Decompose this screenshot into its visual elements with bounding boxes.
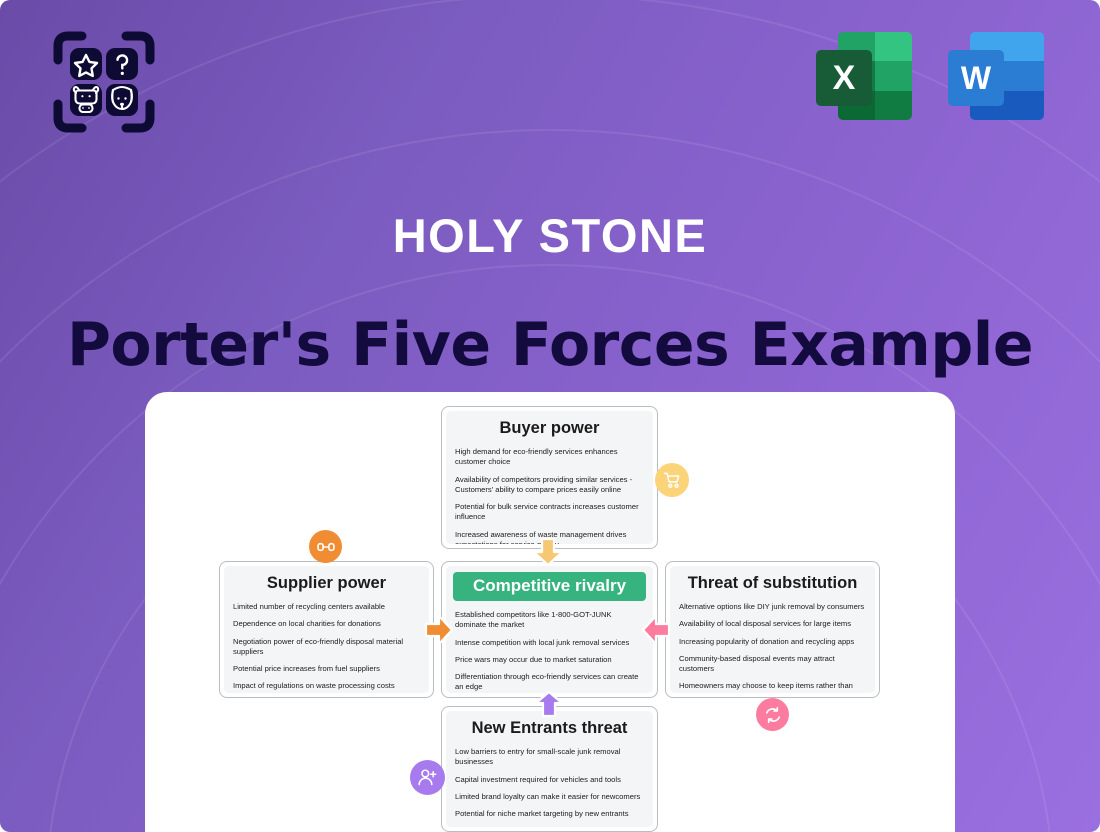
force-item-list: Low barriers to entry for small-scale ju… — [455, 747, 644, 827]
list-item: Low barriers to entry for small-scale ju… — [455, 747, 644, 768]
arrow-buyer-to-rivalry-icon — [531, 537, 565, 567]
list-item: High demand for eco-friendly services en… — [455, 447, 644, 468]
force-title: Buyer power — [455, 419, 644, 438]
list-item: Potential for bulk service contracts inc… — [455, 502, 644, 523]
list-item: Availability of competitors providing si… — [455, 475, 644, 496]
force-item-list: High demand for eco-friendly services en… — [455, 447, 644, 544]
slide-page: X W HOLY STONE Porter's Five Forces Exam… — [0, 0, 1100, 832]
arrow-substitution-to-rivalry-icon — [641, 613, 671, 647]
add-user-icon[interactable] — [410, 760, 445, 795]
arrow-supplier-to-rivalry-icon — [424, 613, 454, 647]
force-title: Competitive rivalry — [453, 572, 646, 601]
cart-icon[interactable] — [655, 463, 689, 497]
list-item: Limited number of recycling centers avai… — [233, 602, 420, 612]
force-box-buyer-power[interactable]: Buyer power High demand for eco-friendly… — [441, 406, 658, 549]
link-icon[interactable] — [309, 530, 342, 563]
force-item-list: Alternative options like DIY junk remova… — [679, 602, 866, 693]
list-item: Price wars may occur due to market satur… — [455, 655, 644, 665]
list-item: Impact of regulations on waste processin… — [233, 681, 420, 691]
force-box-threat-of-substitution[interactable]: Threat of substitution Alternative optio… — [665, 561, 880, 698]
list-item: Intense competition with local junk remo… — [455, 638, 644, 648]
list-item: Potential price increases from fuel supp… — [233, 664, 420, 674]
porters-five-forces-diagram: Buyer power High demand for eco-friendly… — [0, 0, 1100, 832]
force-box-new-entrants-threat[interactable]: New Entrants threat Low barriers to entr… — [441, 706, 658, 832]
force-box-supplier-power[interactable]: Supplier power Limited number of recycli… — [219, 561, 434, 698]
list-item: Limited brand loyalty can make it easier… — [455, 792, 644, 802]
force-title: New Entrants threat — [455, 719, 644, 738]
force-title: Supplier power — [233, 574, 420, 593]
list-item: Homeowners may choose to keep items rath… — [679, 681, 866, 693]
list-item: Availability of local disposal services … — [679, 619, 866, 629]
list-item: Established competitors like 1-800-GOT-J… — [455, 610, 644, 631]
force-item-list: Limited number of recycling centers avai… — [233, 602, 420, 692]
list-item: Community-based disposal events may attr… — [679, 654, 866, 675]
list-item: Capital investment required for vehicles… — [455, 775, 644, 785]
force-title: Threat of substitution — [679, 574, 866, 593]
list-item: Alternative options like DIY junk remova… — [679, 602, 866, 612]
recycle-icon[interactable] — [756, 698, 789, 731]
list-item: Increasing popularity of donation and re… — [679, 637, 866, 647]
list-item: Dependence on local charities for donati… — [233, 619, 420, 629]
force-item-list: Established competitors like 1-800-GOT-J… — [455, 610, 644, 693]
list-item: Regulatory compliance knowledge is essen… — [455, 826, 644, 827]
list-item: Negotiation power of eco-friendly dispos… — [233, 637, 420, 658]
force-box-competitive-rivalry[interactable]: Competitive rivalry Established competit… — [441, 561, 658, 698]
arrow-entrants-to-rivalry-icon — [533, 690, 565, 718]
list-item: Potential for niche market targeting by … — [455, 809, 644, 819]
